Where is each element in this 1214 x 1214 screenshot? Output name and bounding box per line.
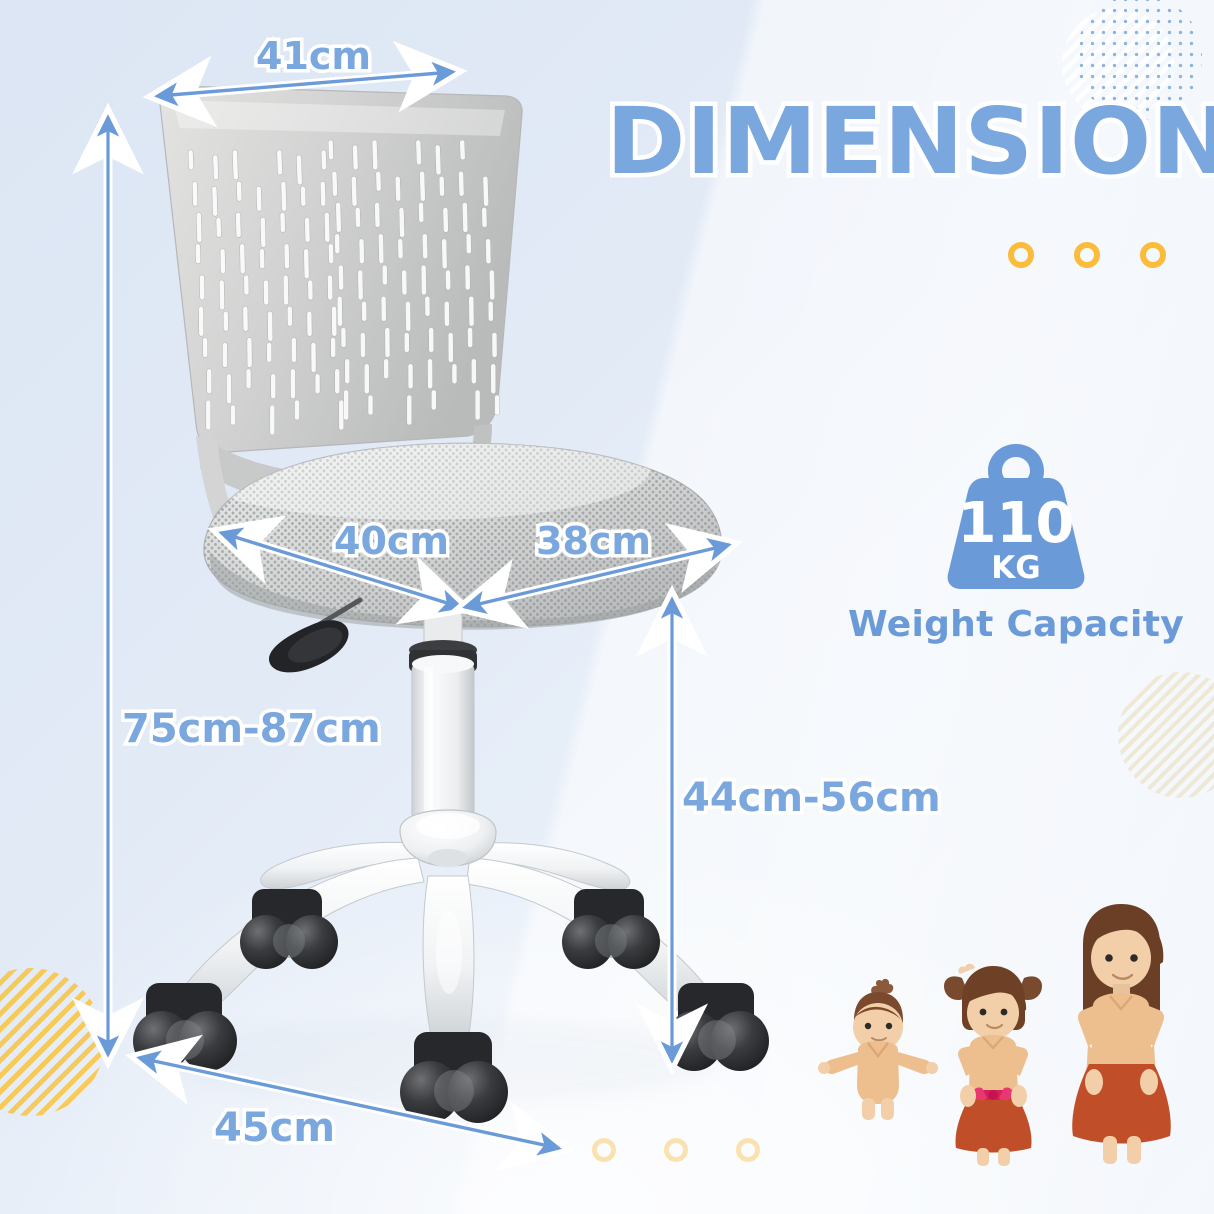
person-toddler — [818, 979, 938, 1120]
person-older-girl — [1072, 904, 1171, 1164]
person-young-girl — [944, 964, 1042, 1166]
people-illustration — [0, 0, 1214, 1214]
infographic-canvas: DIMENSIONS 41cm 40cm 38cm 75cm-87cm 44cm… — [0, 0, 1214, 1214]
